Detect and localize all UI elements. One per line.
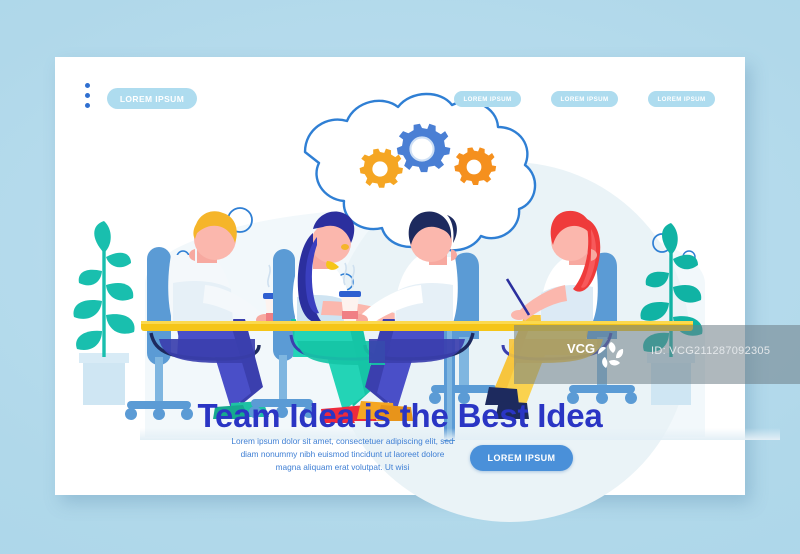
vcg-logo-icon: VCG <box>565 335 635 375</box>
coffee-cup-3 <box>339 263 361 321</box>
nav-item-0[interactable]: LOREM IPSUM <box>107 88 197 109</box>
top-navigation: LOREM IPSUM LOREM IPSUM LOREM IPSUM LORE… <box>55 57 745 127</box>
plant-left <box>73 221 134 405</box>
nav-item-1[interactable]: LOREM IPSUM <box>454 91 521 107</box>
watermark-id: ID: VCG211287092305 <box>651 345 770 357</box>
three-dots-menu-icon[interactable] <box>85 83 92 113</box>
pen-icon <box>507 279 529 315</box>
hero-paragraph: Lorem ipsum dolor sit amet, consectetuer… <box>230 435 455 474</box>
person-blond-man <box>168 211 274 419</box>
cta-button[interactable]: LOREM IPSUM <box>470 445 573 471</box>
nav-item-2[interactable]: LOREM IPSUM <box>551 91 618 107</box>
screenshot-stage: LOREM IPSUM LOREM IPSUM LOREM IPSUM LORE… <box>0 0 800 554</box>
landing-page-card: LOREM IPSUM LOREM IPSUM LOREM IPSUM LORE… <box>55 57 745 495</box>
page-title: Team Idea is the Best Idea <box>55 397 745 435</box>
svg-text:VCG: VCG <box>567 341 595 356</box>
nav-item-3[interactable]: LOREM IPSUM <box>648 91 715 107</box>
